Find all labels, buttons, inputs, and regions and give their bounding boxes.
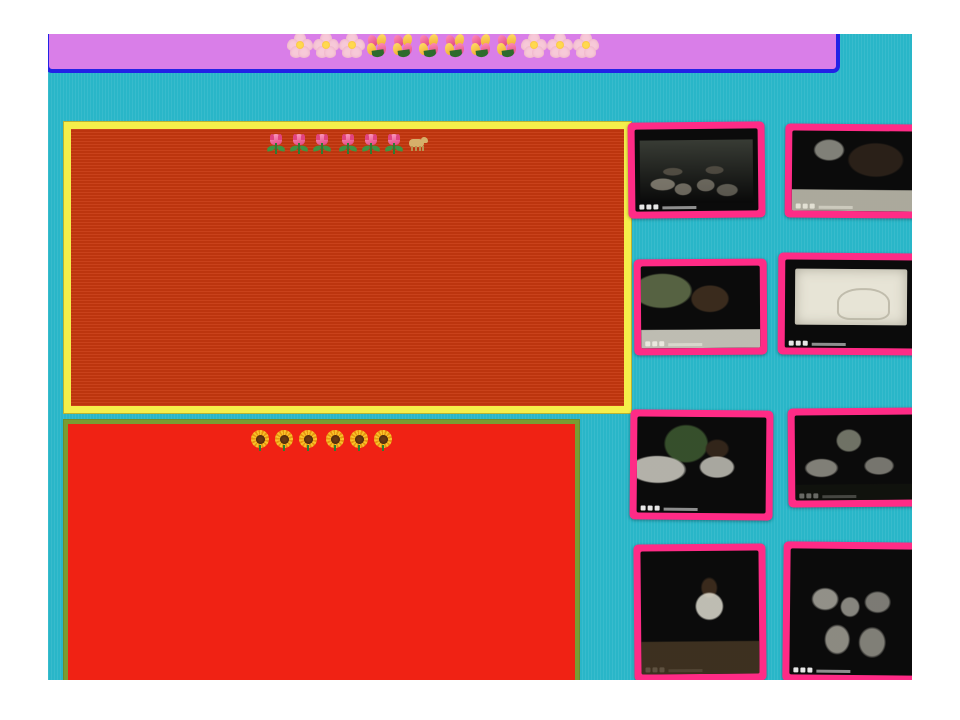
watermark xyxy=(645,341,702,346)
video-still xyxy=(635,128,759,211)
decorative-border-bottom xyxy=(0,680,960,720)
sunflower-icon xyxy=(349,429,370,450)
bouquet-flower-icon xyxy=(417,32,443,58)
decorative-border-top xyxy=(0,0,960,34)
sakura-flower-icon xyxy=(287,32,313,58)
video-still xyxy=(789,548,915,675)
tulip-icon xyxy=(338,134,358,154)
video-subtitle xyxy=(637,507,766,508)
watermark xyxy=(799,493,856,498)
watermark xyxy=(645,667,702,672)
photo-thumbnail[interactable] xyxy=(634,259,768,356)
photo-thumbnail[interactable] xyxy=(633,543,766,681)
sunflower-icon xyxy=(373,429,394,450)
elephant-drawing-icon xyxy=(837,288,891,321)
cow-icon xyxy=(407,136,429,152)
photo-thumbnail[interactable] xyxy=(630,409,774,520)
video-still xyxy=(637,416,767,513)
story-panel-heading-row xyxy=(71,134,624,154)
watermark xyxy=(796,203,853,208)
photo-thumbnail[interactable] xyxy=(782,541,922,682)
photo-thumbnail[interactable] xyxy=(785,123,923,218)
tulip-icon xyxy=(384,134,404,154)
decorative-border-left xyxy=(0,0,48,720)
bouquet-flower-icon xyxy=(391,32,417,58)
bouquet-flower-icon xyxy=(365,32,391,58)
title-inner xyxy=(287,32,599,58)
video-still xyxy=(640,550,759,674)
opinion-panel xyxy=(64,420,579,686)
watermark xyxy=(639,204,696,210)
bouquet-flower-icon xyxy=(443,32,469,58)
sunflower-icon xyxy=(325,429,346,450)
opinion-panel-heading-row xyxy=(68,429,575,450)
story-panel xyxy=(64,122,631,413)
watermark xyxy=(789,341,846,346)
tulip-icon xyxy=(312,134,332,154)
poster-root xyxy=(0,0,960,720)
sakura-flower-icon xyxy=(521,32,547,58)
video-still xyxy=(785,260,916,349)
bouquet-flower-icon xyxy=(495,32,521,58)
tulip-icon xyxy=(266,134,286,154)
sunflower-icon xyxy=(298,429,319,450)
sakura-flower-icon xyxy=(573,32,599,58)
decorative-border-right xyxy=(912,0,960,720)
watermark xyxy=(793,667,850,673)
watermark xyxy=(641,505,698,510)
tulip-icon xyxy=(361,134,381,154)
video-still xyxy=(641,266,761,349)
photo-thumbnail[interactable] xyxy=(788,407,923,507)
bouquet-flower-icon xyxy=(469,32,495,58)
photo-thumbnail[interactable] xyxy=(778,252,923,355)
sakura-flower-icon xyxy=(339,32,365,58)
video-still xyxy=(795,414,916,500)
tulip-icon xyxy=(289,134,309,154)
photo-thumbnail[interactable] xyxy=(628,121,766,218)
photo-grid xyxy=(628,122,922,688)
sakura-flower-icon xyxy=(547,32,573,58)
video-still xyxy=(792,130,916,211)
sunflower-icon xyxy=(250,429,271,450)
sakura-flower-icon xyxy=(313,32,339,58)
sunflower-icon xyxy=(274,429,295,450)
